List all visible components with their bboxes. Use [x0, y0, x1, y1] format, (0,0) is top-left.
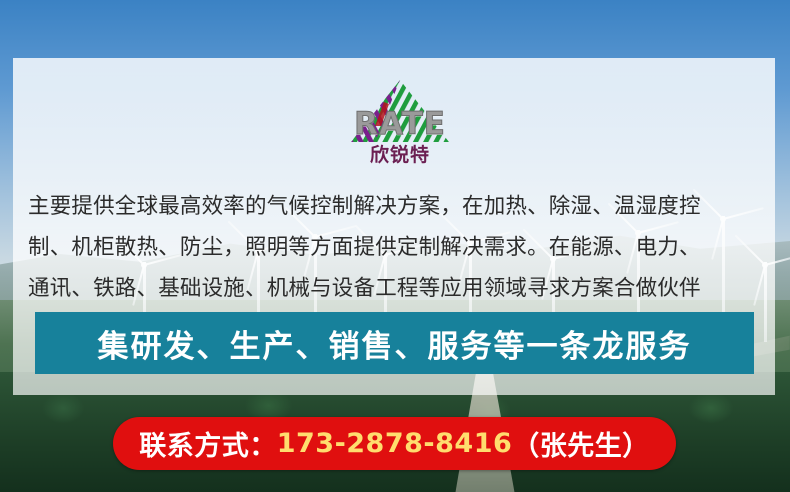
- logo-wordmark: RATE: [345, 109, 455, 140]
- triangle-stripes-logo-icon: RATE: [345, 78, 455, 144]
- description-line-2: 制、机柜散热、防尘，照明等方面提供定制解决需求。在能源、电力、: [28, 227, 770, 268]
- contact-banner[interactable]: 联系方式： 173-2878-8416 （张先生）: [113, 417, 676, 470]
- contact-phone-number[interactable]: 173-2878-8416: [277, 428, 513, 459]
- contact-label: 联系方式：: [139, 424, 277, 463]
- contact-person-name: （张先生）: [512, 424, 650, 463]
- logo-chinese-name: 欣锐特: [345, 145, 455, 166]
- description-line-1: 主要提供全球最高效率的气候控制解决方案，在加热、除湿、温湿度控: [28, 186, 770, 227]
- services-banner: 集研发、生产、销售、服务等一条龙服务: [35, 312, 754, 374]
- description-line-3: 通讯、铁路、基础设施、机械与设备工程等应用领域寻求方案合做伙伴: [28, 268, 770, 309]
- company-logo: RATE 欣锐特: [345, 78, 455, 173]
- services-banner-text: 集研发、生产、销售、服务等一条龙服务: [98, 321, 692, 366]
- promo-poster: RATE 欣锐特 主要提供全球最高效率的气候控制解决方案，在加热、除湿、温湿度控…: [0, 0, 790, 492]
- description-paragraph: 主要提供全球最高效率的气候控制解决方案，在加热、除湿、温湿度控 制、机柜散热、防…: [28, 186, 770, 309]
